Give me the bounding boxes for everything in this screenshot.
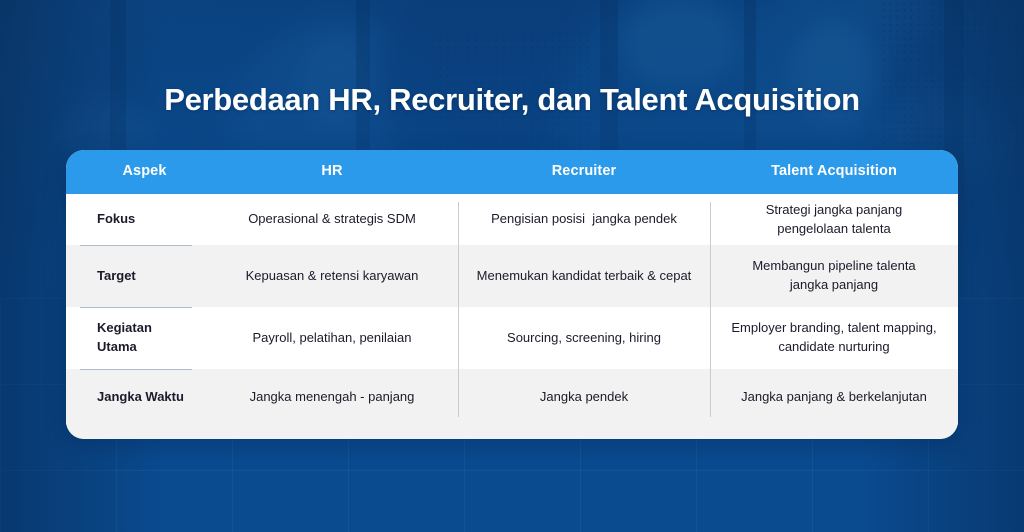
table-body: FokusOperasional & strategis SDMPengisia… <box>66 194 958 425</box>
table-header-row: Aspek HR Recruiter Talent Acquisition <box>66 150 958 194</box>
table-row: Kegiatan UtamaPayroll, pelatihan, penila… <box>66 307 958 369</box>
cell-recruiter: Sourcing, screening, hiring <box>458 307 710 369</box>
column-header-talent-acquisition: Talent Acquisition <box>710 155 958 188</box>
aspek-row-separator <box>80 245 192 246</box>
cell-hr: Payroll, pelatihan, penilaian <box>206 307 458 369</box>
cell-aspek: Target <box>66 245 206 307</box>
table-row: FokusOperasional & strategis SDMPengisia… <box>66 194 958 245</box>
cell-aspek: Jangka Waktu <box>66 369 206 425</box>
page-title: Perbedaan HR, Recruiter, dan Talent Acqu… <box>0 82 1024 118</box>
column-header-aspek: Aspek <box>66 155 206 188</box>
table-row: Jangka WaktuJangka menengah - panjangJan… <box>66 369 958 425</box>
cell-aspek: Fokus <box>66 194 206 245</box>
cell-recruiter: Pengisian posisi jangka pendek <box>458 194 710 245</box>
cell-talent-acquisition: Strategi jangka panjang pengelolaan tale… <box>710 194 958 245</box>
column-divider <box>710 202 711 417</box>
cell-talent-acquisition: Employer branding, talent mapping, candi… <box>710 307 958 369</box>
column-header-recruiter: Recruiter <box>458 155 710 188</box>
column-header-hr: HR <box>206 155 458 188</box>
cell-talent-acquisition: Jangka panjang & berkelanjutan <box>710 369 958 425</box>
cell-hr: Jangka menengah - panjang <box>206 369 458 425</box>
cell-recruiter: Jangka pendek <box>458 369 710 425</box>
comparison-table: Aspek HR Recruiter Talent Acquisition Fo… <box>66 150 958 439</box>
aspek-row-separator <box>80 369 192 370</box>
aspek-row-separator <box>80 307 192 308</box>
cell-hr: Kepuasan & retensi karyawan <box>206 245 458 307</box>
column-divider <box>458 202 459 417</box>
cell-recruiter: Menemukan kandidat terbaik & cepat <box>458 245 710 307</box>
cell-talent-acquisition: Membangun pipeline talenta jangka panjan… <box>710 245 958 307</box>
cell-hr: Operasional & strategis SDM <box>206 194 458 245</box>
cell-aspek: Kegiatan Utama <box>66 307 206 369</box>
table-footer-strip <box>66 425 958 439</box>
table-row: TargetKepuasan & retensi karyawanMenemuk… <box>66 245 958 307</box>
